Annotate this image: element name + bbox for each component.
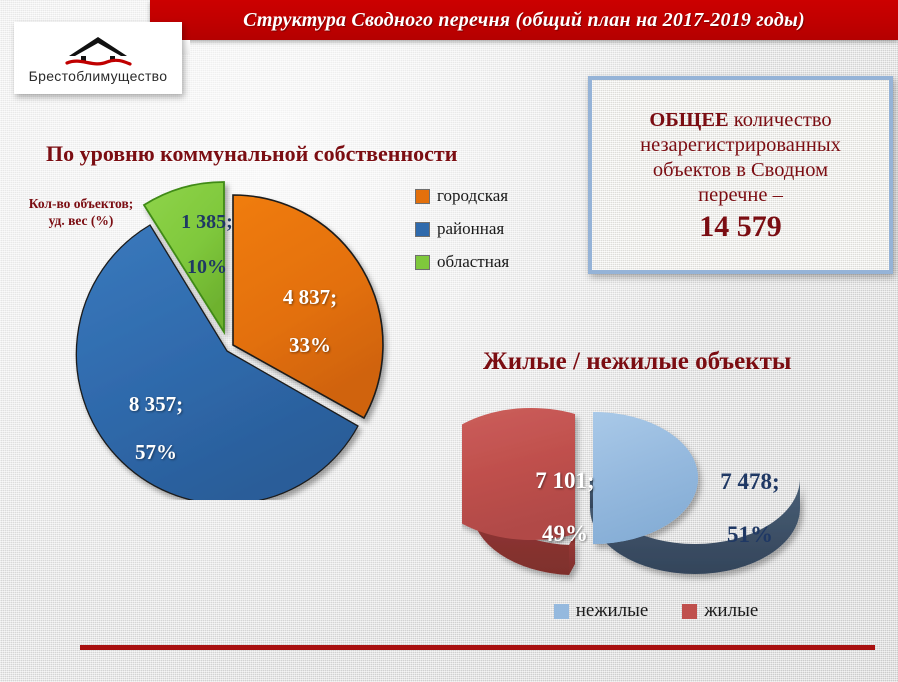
page-title: Структура Сводного перечня (общий план н… <box>150 0 898 40</box>
callout-text: ОБЩЕЕ количество незарегистрированных об… <box>632 108 849 208</box>
callout-line1-rest: количество <box>729 109 832 131</box>
logo-wordmark: Брестоблимущество <box>29 68 168 84</box>
total-objects-callout: ОБЩЕЕ количество незарегистрированных об… <box>588 76 893 274</box>
legend-swatch-zhilye <box>682 604 697 619</box>
legend-swatch-oblastnaya <box>415 255 430 270</box>
bottom-divider <box>80 645 875 650</box>
header-banner: Структура Сводного перечня (общий план н… <box>150 0 898 40</box>
left-chart-legend: городская районная областная <box>415 186 509 285</box>
legend-swatch-rayonnaya <box>415 222 430 237</box>
legend-item-nezhilye[interactable]: нежилые <box>554 600 649 622</box>
legend-swatch-gorodskaya <box>415 189 430 204</box>
legend-item-oblastnaya[interactable]: областная <box>415 252 509 272</box>
legend-label-gorodskaya: городская <box>437 186 508 206</box>
right-chart-legend: нежилые жилые <box>516 600 796 622</box>
legend-label-oblastnaya: областная <box>437 252 509 272</box>
company-logo: Брестоблимущество <box>14 22 182 94</box>
callout-emphasis: ОБЩЕЕ <box>649 109 728 131</box>
pie-slice-nezhilye <box>590 412 800 574</box>
legend-label-zhilye: жилые <box>704 600 758 622</box>
right-chart-title: Жилые / нежилые объекты <box>483 348 791 376</box>
legend-item-zhilye[interactable]: жилые <box>682 600 758 622</box>
residential-pie-chart <box>462 382 872 597</box>
legend-label-rayonnaya: районная <box>437 219 504 239</box>
pie-slice-zhilye <box>462 408 575 575</box>
callout-line3: объектов в Сводном <box>653 159 828 181</box>
communal-ownership-pie-chart <box>40 168 420 500</box>
legend-swatch-nezhilye <box>554 604 569 619</box>
legend-item-rayonnaya[interactable]: районная <box>415 219 509 239</box>
total-objects-value: 14 579 <box>699 210 782 243</box>
callout-line2: незарегистрированных <box>640 134 841 156</box>
house-icon <box>63 32 133 66</box>
callout-line4: перечне – <box>698 184 783 206</box>
left-chart-title: По уровню коммунальной собственности <box>46 141 457 167</box>
legend-item-gorodskaya[interactable]: городская <box>415 186 509 206</box>
legend-label-nezhilye: нежилые <box>576 600 649 622</box>
